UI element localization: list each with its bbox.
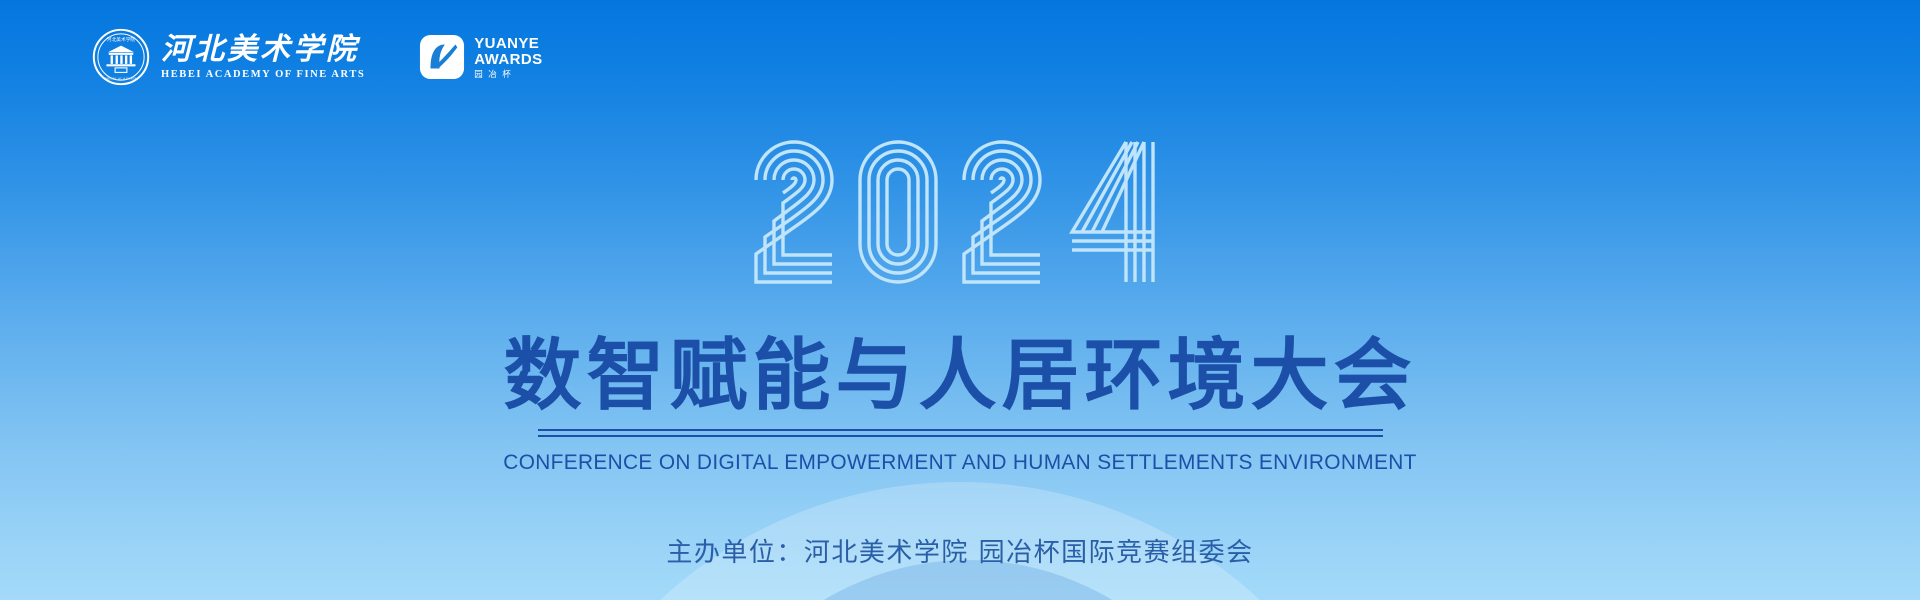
year-digit-2b [964, 142, 1040, 282]
title-block: 数智赋能与人居环境大会 CONFERENCE ON DIGITAL EMPOWE… [410, 336, 1510, 475]
title-divider-line-1 [538, 429, 1383, 431]
hebei-academy-seal-icon: 河北美术学院 HEBEI ACADEMY [92, 28, 150, 86]
logo-bar: 河北美术学院 HEBEI ACADEMY 河北美术学院 HEBEI ACADEM… [92, 28, 543, 86]
yuanye-name-cn: 园冶杯 [474, 70, 542, 79]
organizer-line: 主办单位：河北美术学院 园冶杯国际竞赛组委会 [410, 532, 1510, 569]
page-subtitle-en: CONFERENCE ON DIGITAL EMPOWERMENT AND HU… [427, 450, 1494, 475]
title-divider [538, 429, 1383, 437]
yuanye-awards-logo[interactable]: YUANYE AWARDS 园冶杯 [419, 34, 542, 80]
year-2024-graphic [750, 136, 1170, 288]
hebei-academy-wordmark: 河北美术学院 HEBEI ACADEMY OF FINE ARTS [161, 33, 365, 81]
yuanye-awards-wordmark: YUANYE AWARDS 园冶杯 [474, 36, 542, 78]
year-digit-0 [860, 142, 936, 282]
hebei-academy-name-cn: 河北美术学院 [161, 33, 365, 67]
svg-text:HEBEI ACADEMY: HEBEI ACADEMY [105, 76, 137, 80]
hebei-academy-name-en: HEBEI ACADEMY OF FINE ARTS [161, 69, 365, 82]
year-digit-2a [756, 142, 832, 282]
conference-banner: 河北美术学院 HEBEI ACADEMY 河北美术学院 HEBEI ACADEM… [0, 0, 1920, 600]
hebei-academy-logo[interactable]: 河北美术学院 HEBEI ACADEMY 河北美术学院 HEBEI ACADEM… [92, 28, 365, 86]
svg-text:河北美术学院: 河北美术学院 [107, 36, 136, 43]
yuanye-line-2: AWARDS [474, 52, 542, 67]
yuanye-line-1: YUANYE [474, 36, 542, 51]
title-divider-line-2 [538, 435, 1383, 437]
yuanye-awards-mark-icon [419, 34, 465, 80]
page-title-cn: 数智赋能与人居环境大会 [410, 336, 1510, 417]
year-digit-4 [1072, 142, 1154, 282]
